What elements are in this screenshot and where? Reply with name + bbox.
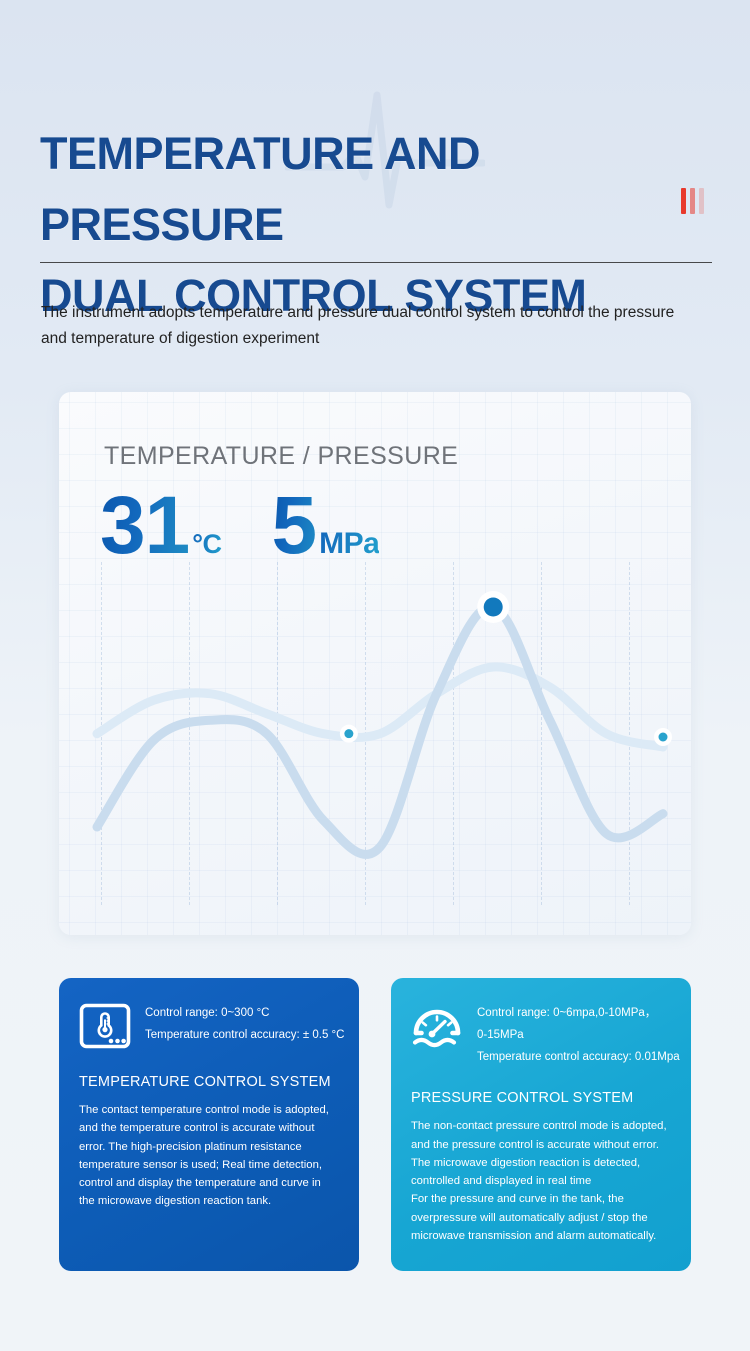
accent-bar-2 [690,188,695,214]
chart-marker-3[interactable] [659,733,668,742]
chart-line-pressure [97,667,663,747]
accent-bars [681,188,704,214]
dual-control-line-chart [59,392,691,935]
card-pressure-control-system[interactable]: Control range: 0~6mpa,0-10MPa， 0-15MPa T… [391,978,691,1271]
header-divider [40,262,712,263]
chart-marker-2[interactable] [484,598,503,617]
spec-line: Control range: 0~6mpa,0-10MPa， [477,1002,680,1024]
spec-line: Temperature control accuracy: 0.01Mpa [477,1046,680,1068]
feature-cards: Control range: 0~300 °C Temperature cont… [59,978,691,1271]
card-title: PRESSURE CONTROL SYSTEM [411,1090,671,1106]
pressure-gauge-icon [411,1000,463,1052]
card-specs: Control range: 0~300 °C Temperature cont… [145,1000,344,1046]
card-header: Control range: 0~300 °C Temperature cont… [79,1000,339,1052]
chart-marker-1[interactable] [344,729,353,738]
card-title: TEMPERATURE CONTROL SYSTEM [79,1074,339,1090]
header: TEMPERATURE AND PRESSURE DUAL CONTROL SY… [0,0,750,350]
card-paragraph: The non-contact pressure control mode is… [411,1117,671,1190]
spec-line: Temperature control accuracy: ± 0.5 °C [145,1024,344,1046]
thermometer-device-icon [79,1000,131,1052]
readout-panel: TEMPERATURE / PRESSURE 31 °C 5 MPa [59,392,691,935]
intro-paragraph: The instrument adopts temperature and pr… [41,300,691,353]
card-paragraph: The contact temperature control mode is … [79,1101,339,1211]
card-body: The non-contact pressure control mode is… [411,1117,671,1245]
page-title-line-1: TEMPERATURE AND PRESSURE [40,118,730,260]
accent-bar-1 [681,188,686,214]
card-paragraph: For the pressure and curve in the tank, … [411,1190,671,1245]
card-specs: Control range: 0~6mpa,0-10MPa， 0-15MPa T… [477,1000,680,1068]
accent-bar-3 [699,188,704,214]
card-body: The contact temperature control mode is … [79,1101,339,1211]
page-root: TEMPERATURE AND PRESSURE DUAL CONTROL SY… [0,0,750,1351]
spec-line: 0-15MPa [477,1024,680,1046]
card-header: Control range: 0~6mpa,0-10MPa， 0-15MPa T… [411,1000,671,1068]
card-temperature-control-system[interactable]: Control range: 0~300 °C Temperature cont… [59,978,359,1271]
spec-line: Control range: 0~300 °C [145,1002,344,1024]
